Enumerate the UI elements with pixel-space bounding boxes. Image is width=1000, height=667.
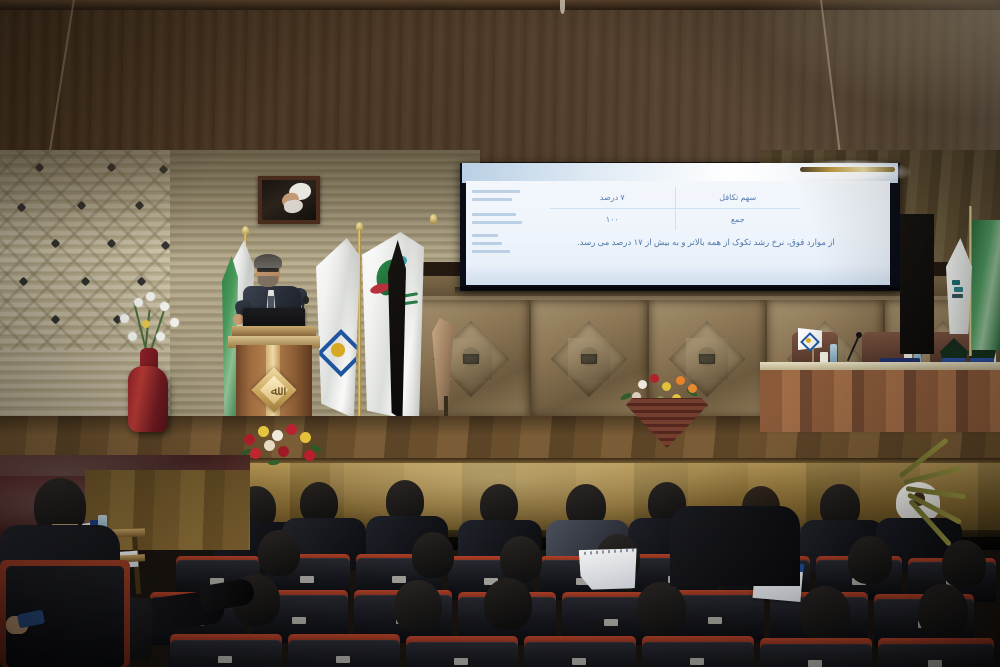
audience-head (636, 582, 686, 636)
conference-hall-photo: ۷ درصد سهم تکافل ۱۰۰ جمع از موارد فوق، ن… (0, 0, 1000, 667)
slide-table: ۷ درصد سهم تکافل ۱۰۰ جمع (550, 187, 800, 231)
table-cell-value: ۷ درصد (550, 187, 676, 208)
national-flag-green (972, 220, 1000, 350)
audience-seat[interactable] (760, 644, 872, 667)
audience-head (918, 584, 968, 638)
flag-dark-right (900, 214, 934, 354)
desk-flag-circle-icon (806, 338, 811, 343)
table-cell-value: ۱۰۰ (550, 209, 676, 230)
portrait-beard (283, 199, 304, 215)
front-stage-bouquet (238, 424, 330, 470)
audience-head (942, 540, 986, 588)
audience-seat[interactable] (288, 640, 400, 667)
slide-sentence: از موارد فوق، نرخ رشد تکوک از همه بالاتر… (536, 237, 876, 248)
screen-lower-sheen (466, 265, 890, 285)
microphone-icon (856, 332, 862, 338)
microphone-icon (303, 296, 309, 304)
audience-head (258, 530, 300, 576)
ceiling-fixture (560, 0, 565, 14)
table-row: ۱۰۰ جمع (550, 209, 800, 230)
audience-seat[interactable] (878, 644, 994, 667)
flag-blue-logo (316, 238, 360, 418)
audience-head (484, 578, 532, 630)
screen-drop-shadow (455, 287, 905, 295)
gold-circle-icon (331, 343, 345, 357)
speaker-glasses (257, 268, 279, 272)
table-cell-label: جمع (676, 209, 801, 230)
right-foreground-attendee (670, 506, 800, 586)
audience-head (394, 580, 442, 632)
audience-seat[interactable] (642, 642, 754, 667)
right-flag-logo (952, 280, 966, 300)
audience-seat[interactable] (406, 642, 518, 667)
ceiling-light-glow (740, 0, 1000, 120)
speaker-beard (258, 276, 278, 287)
table-row: ۷ درصد سهم تکافل (550, 187, 800, 209)
audience-head (500, 536, 542, 582)
wall-portrait (262, 180, 316, 220)
screen-reflection-bar (800, 167, 895, 172)
audience-head (848, 536, 892, 584)
flagpole-finial (430, 214, 437, 224)
audience-seat[interactable] (524, 642, 636, 667)
podium-emblem-glyph: ﷲ (266, 382, 283, 399)
water-bottle (830, 344, 837, 364)
red-vase (128, 366, 168, 432)
screen-hotspot (790, 160, 910, 184)
audience-seat[interactable] (170, 640, 282, 667)
panel-table-skirt (760, 370, 1000, 432)
table-cell-label: سهم تکافل (676, 187, 801, 208)
audience-head (412, 532, 454, 578)
palm-plant (880, 470, 1000, 540)
audience-head (800, 586, 850, 640)
